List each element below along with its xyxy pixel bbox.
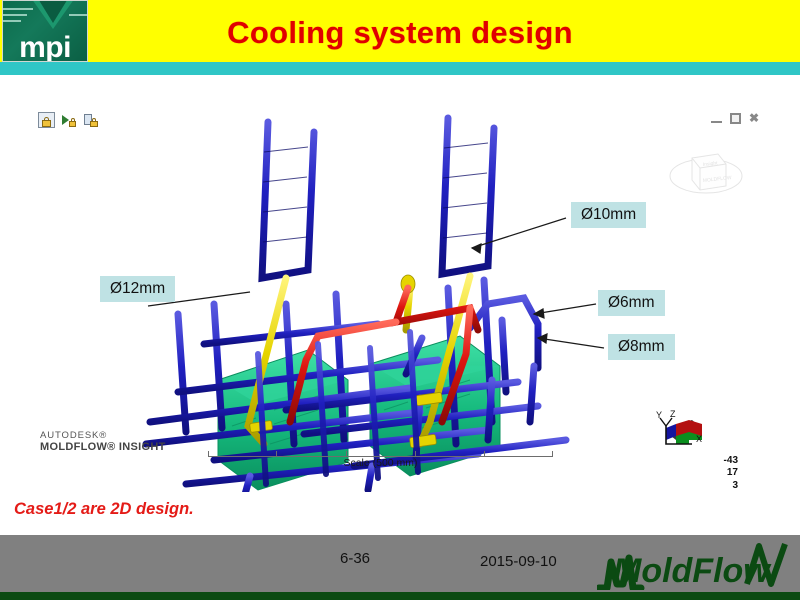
triangle-v-inner-icon xyxy=(37,0,69,23)
slide-caption: Case1/2 are 2D design. xyxy=(14,500,194,519)
header-accent-band xyxy=(0,62,800,75)
mpi-logo-text: mpi xyxy=(3,33,87,62)
autodesk-brand-line1: AUTODESK® xyxy=(40,430,166,441)
mpi-logo: mpi xyxy=(2,0,88,62)
axis-value-0: -43 xyxy=(692,455,738,468)
cad-viewport[interactable]: ✖ Insight MOLDFLOW xyxy=(18,92,782,492)
callout-d12: Ø12mm xyxy=(100,276,175,302)
footer-bottom-strip xyxy=(0,592,800,600)
callout-d8: Ø8mm xyxy=(608,334,675,360)
autodesk-brand: AUTODESK® MOLDFLOW® INSIGHT xyxy=(40,430,166,454)
page-title: Cooling system design xyxy=(90,8,710,58)
axis-label-z: Z xyxy=(670,409,676,419)
footer-page-number: 6-36 xyxy=(340,550,370,567)
model-parts xyxy=(146,118,566,492)
axis-value-1: 17 xyxy=(692,467,738,480)
callout-d10: Ø10mm xyxy=(571,202,646,228)
channel-bead-marks xyxy=(263,143,488,242)
channel-group-blue xyxy=(146,118,566,492)
moldflow-logo: MoldFlow xyxy=(597,540,793,590)
logo-streak xyxy=(3,20,21,22)
scale-bar-caption: Scale (500 mm) xyxy=(208,457,553,469)
autodesk-brand-line2: MOLDFLOW® INSIGHT xyxy=(40,441,166,454)
slide-root: mpi Cooling system design ✖ xyxy=(0,0,800,600)
logo-streak xyxy=(3,14,27,16)
axis-values: -43 17 3 xyxy=(692,455,738,493)
callout-d6: Ø6mm xyxy=(598,290,665,316)
axis-label-y: Y xyxy=(656,410,662,420)
footer-date: 2015-09-10 xyxy=(480,553,557,570)
scale-bar: Scale (500 mm) xyxy=(208,448,553,472)
axis-label-x: X xyxy=(696,434,702,444)
axis-value-2: 3 xyxy=(692,480,738,493)
